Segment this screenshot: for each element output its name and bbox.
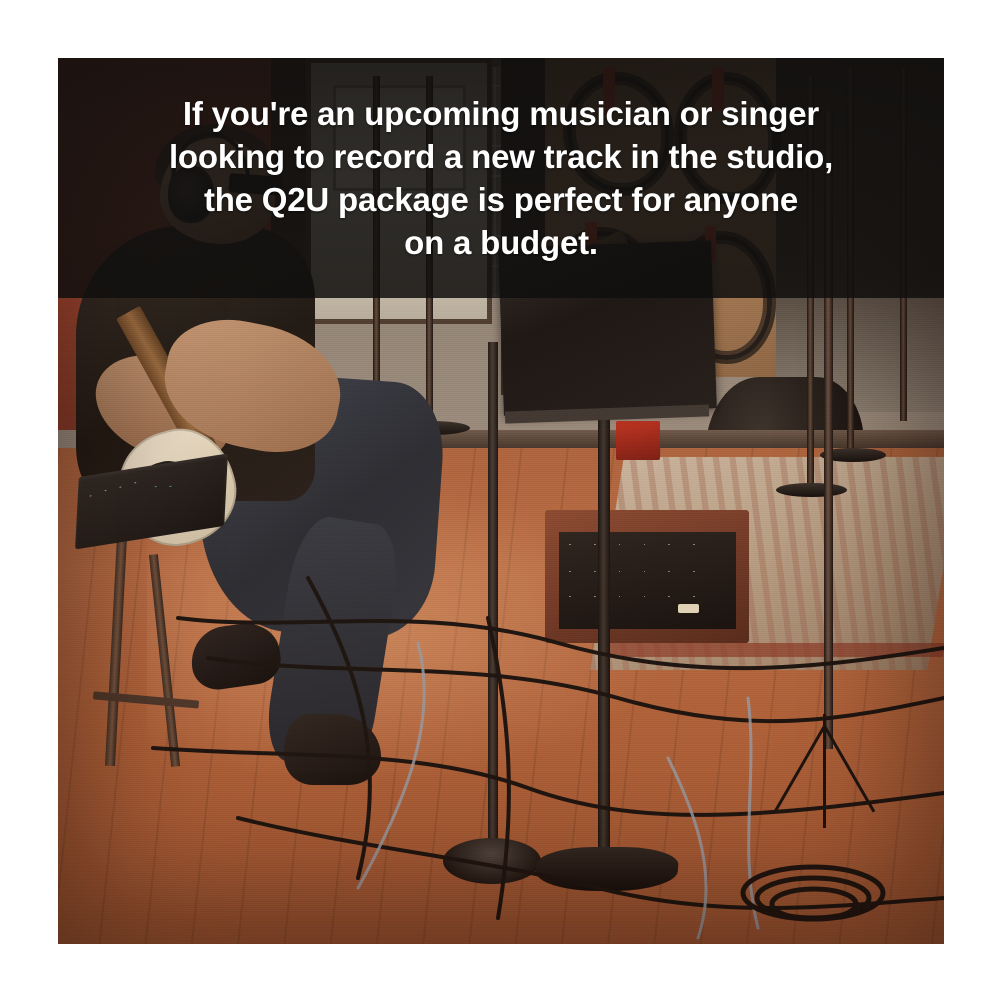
caption-text: If you're an upcoming musician or singer… — [169, 92, 833, 264]
screenshot-canvas: If you're an upcoming musician or singer… — [0, 0, 1000, 1000]
caption-overlay-banner: If you're an upcoming musician or singer… — [58, 58, 944, 298]
